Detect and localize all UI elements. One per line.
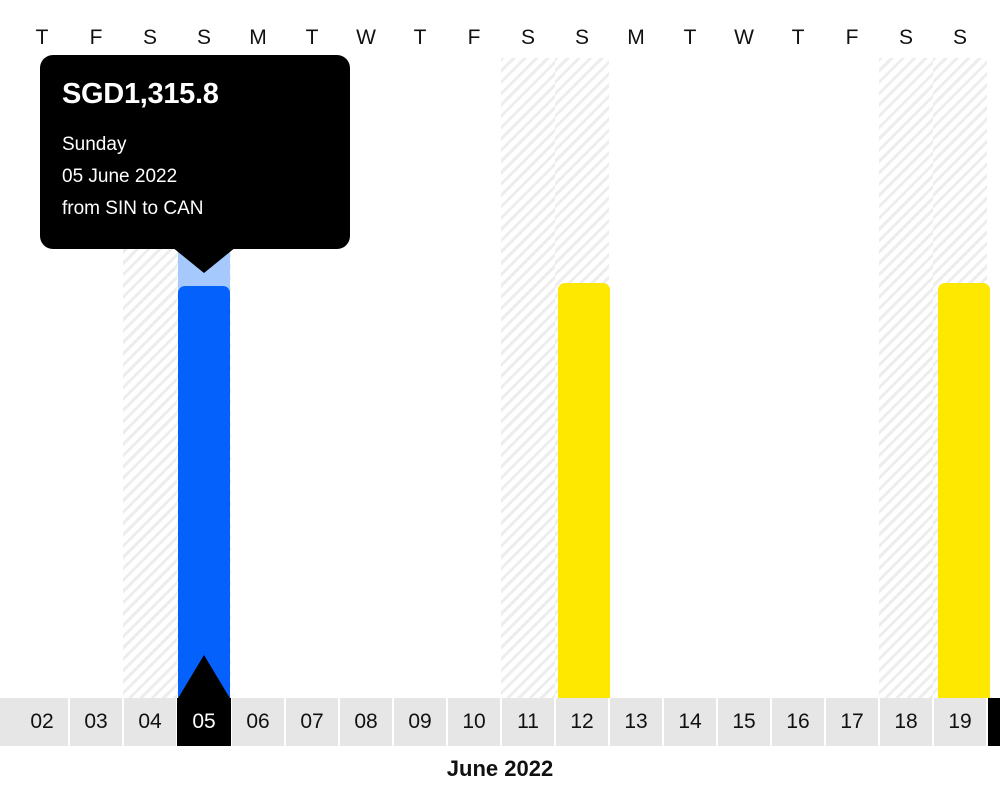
weekday-label-17: F xyxy=(825,26,879,50)
weekday-label-15: W xyxy=(717,26,771,50)
date-cell-10[interactable]: 10 xyxy=(448,698,500,746)
date-cell-02[interactable]: 02 xyxy=(16,698,68,746)
weekend-band-18 xyxy=(879,58,933,698)
bar-12[interactable] xyxy=(558,283,610,698)
date-cell-07[interactable]: 07 xyxy=(286,698,338,746)
date-axis-row: 02 03 04 05 06 07 08 09 10 11 12 13 14 1… xyxy=(0,698,1000,746)
weekday-label-10: F xyxy=(447,26,501,50)
weekday-label-06: M xyxy=(231,26,285,50)
date-cell-11[interactable]: 11 xyxy=(502,698,554,746)
tooltip-amount: SGD1,315.8 xyxy=(62,77,328,111)
weekday-label-02: T xyxy=(15,26,69,50)
date-cell-14[interactable]: 14 xyxy=(664,698,716,746)
date-cell-19[interactable]: 19 xyxy=(934,698,986,746)
weekday-label-13: M xyxy=(609,26,663,50)
weekday-label-11: S xyxy=(501,26,555,50)
date-cell-08[interactable]: 08 xyxy=(340,698,392,746)
price-tooltip: SGD1,315.8 Sunday 05 June 2022 from SIN … xyxy=(40,55,350,249)
date-cell-03[interactable]: 03 xyxy=(70,698,122,746)
weekday-label-07: T xyxy=(285,26,339,50)
weekday-label-16: T xyxy=(771,26,825,50)
tooltip-route: from SIN to CAN xyxy=(62,193,328,225)
weekday-label-14: T xyxy=(663,26,717,50)
date-cell-15[interactable]: 15 xyxy=(718,698,770,746)
weekday-label-12: S xyxy=(555,26,609,50)
date-cell-20-partial[interactable] xyxy=(988,698,1000,746)
weekday-label-18: S xyxy=(879,26,933,50)
weekday-label-03: F xyxy=(69,26,123,50)
date-cell-05[interactable]: 05 xyxy=(177,698,231,746)
bar-19[interactable] xyxy=(938,283,990,698)
weekday-label-05: S xyxy=(177,26,231,50)
date-cell-17[interactable]: 17 xyxy=(826,698,878,746)
bar-05[interactable] xyxy=(178,286,230,698)
date-cell-18[interactable]: 18 xyxy=(880,698,932,746)
month-label: June 2022 xyxy=(0,756,1000,782)
weekday-label-08: W xyxy=(339,26,393,50)
weekend-band-11 xyxy=(501,58,555,698)
weekday-label-19: S xyxy=(933,26,987,50)
date-cell-13[interactable]: 13 xyxy=(610,698,662,746)
date-cell-06[interactable]: 06 xyxy=(232,698,284,746)
weekday-header-row: T F S S M T W T F S S M T W T F S S xyxy=(0,0,1000,58)
tooltip-date: 05 June 2022 xyxy=(62,161,328,193)
weekday-label-04: S xyxy=(123,26,177,50)
date-cell-16[interactable]: 16 xyxy=(772,698,824,746)
weekday-label-09: T xyxy=(393,26,447,50)
date-cell-04[interactable]: 04 xyxy=(124,698,176,746)
price-calendar-chart: T F S S M T W T F S S M T W T F S S xyxy=(0,0,1000,804)
date-cell-12[interactable]: 12 xyxy=(556,698,608,746)
date-cell-09[interactable]: 09 xyxy=(394,698,446,746)
tooltip-weekday: Sunday xyxy=(62,129,328,161)
